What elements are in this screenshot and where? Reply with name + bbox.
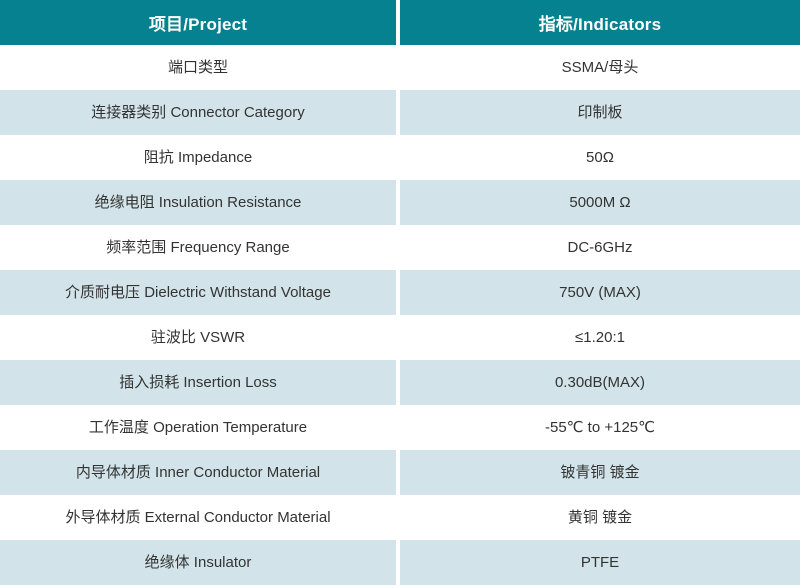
cell-project: 绝缘电阻 Insulation Resistance — [0, 180, 400, 225]
cell-project: 工作温度 Operation Temperature — [0, 405, 400, 450]
table-body: 端口类型SSMA/母头连接器类别 Connector Category印制板阻抗… — [0, 45, 800, 585]
cell-indicator: 铍青铜 镀金 — [400, 450, 800, 495]
table-row: 工作温度 Operation Temperature-55℃ to +125℃ — [0, 405, 800, 450]
cell-indicator: 0.30dB(MAX) — [400, 360, 800, 405]
cell-project: 介质耐电压 Dielectric Withstand Voltage — [0, 270, 400, 315]
cell-indicator: -55℃ to +125℃ — [400, 405, 800, 450]
table-row: 绝缘体 InsulatorPTFE — [0, 540, 800, 585]
table-row: 端口类型SSMA/母头 — [0, 45, 800, 90]
cell-indicator: 50Ω — [400, 135, 800, 180]
cell-project: 端口类型 — [0, 45, 400, 90]
cell-indicator: 黄铜 镀金 — [400, 495, 800, 540]
cell-indicator: 750V (MAX) — [400, 270, 800, 315]
cell-project: 阻抗 Impedance — [0, 135, 400, 180]
cell-indicator: 5000M Ω — [400, 180, 800, 225]
cell-indicator: SSMA/母头 — [400, 45, 800, 90]
table-header-row: 项目/Project 指标/Indicators — [0, 0, 800, 45]
table-row: 阻抗 Impedance50Ω — [0, 135, 800, 180]
cell-project: 外导体材质 External Conductor Material — [0, 495, 400, 540]
cell-project: 连接器类别 Connector Category — [0, 90, 400, 135]
cell-indicator: ≤1.20:1 — [400, 315, 800, 360]
cell-project: 内导体材质 Inner Conductor Material — [0, 450, 400, 495]
column-header-project: 项目/Project — [0, 0, 400, 45]
table-row: 频率范围 Frequency RangeDC-6GHz — [0, 225, 800, 270]
table-row: 连接器类别 Connector Category印制板 — [0, 90, 800, 135]
cell-indicator: 印制板 — [400, 90, 800, 135]
table-row: 外导体材质 External Conductor Material黄铜 镀金 — [0, 495, 800, 540]
column-header-indicators: 指标/Indicators — [400, 0, 800, 45]
table-row: 绝缘电阻 Insulation Resistance5000M Ω — [0, 180, 800, 225]
cell-project: 绝缘体 Insulator — [0, 540, 400, 585]
cell-indicator: DC-6GHz — [400, 225, 800, 270]
table-row: 插入损耗 Insertion Loss0.30dB(MAX) — [0, 360, 800, 405]
table-header: 项目/Project 指标/Indicators — [0, 0, 800, 45]
cell-project: 插入损耗 Insertion Loss — [0, 360, 400, 405]
cell-project: 频率范围 Frequency Range — [0, 225, 400, 270]
cell-indicator: PTFE — [400, 540, 800, 585]
specification-table: 项目/Project 指标/Indicators 端口类型SSMA/母头连接器类… — [0, 0, 800, 585]
table-row: 内导体材质 Inner Conductor Material铍青铜 镀金 — [0, 450, 800, 495]
table-row: 驻波比 VSWR≤1.20:1 — [0, 315, 800, 360]
cell-project: 驻波比 VSWR — [0, 315, 400, 360]
table-row: 介质耐电压 Dielectric Withstand Voltage750V (… — [0, 270, 800, 315]
